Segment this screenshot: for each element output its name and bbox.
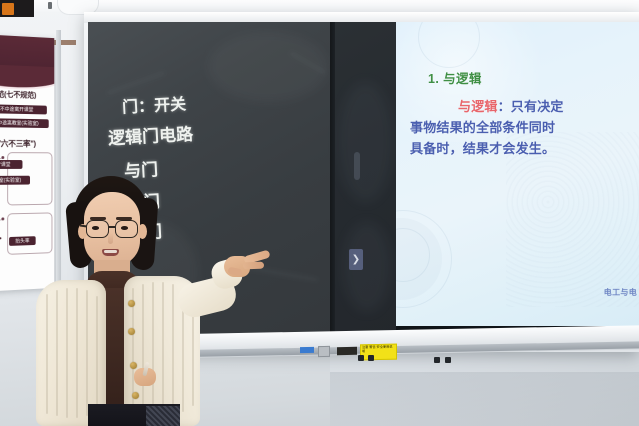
chevron-right-icon[interactable]: ❯ — [349, 249, 363, 270]
poster-pill-2: 不中途离教室(实验室) — [0, 118, 49, 128]
poster-node-dot-1 — [1, 156, 4, 159]
teeth — [104, 250, 117, 253]
slide-body-text: 与逻辑：只有决定 事物结果的全部条件同时 具备时，结果才会发生。 — [410, 96, 638, 159]
poster-pill-6 — [0, 237, 1, 240]
slide-body-line-1: 与逻辑：只有决定 — [410, 96, 638, 117]
slide-body-line-2: 事物结果的全部条件同时 — [410, 117, 638, 138]
slide-emphasis-term: 与逻辑 — [458, 99, 498, 114]
warning-sticker: 注意 警告 安全使用说明 — [360, 344, 397, 361]
slide-body-line-1-rest: ：只有决定 — [498, 99, 564, 114]
slide-heading: 1. 与逻辑 — [428, 68, 482, 87]
chalk-line-1: 门：开关 — [121, 90, 186, 117]
eye-right — [121, 226, 128, 230]
smartboard-panel-divider — [330, 22, 335, 344]
eye-left — [92, 226, 99, 230]
slide-footer-text: 电工与电 — [604, 287, 637, 298]
skirt-pattern — [146, 406, 180, 426]
drag-handle[interactable] — [354, 152, 360, 180]
wall-mounted-dark-box — [0, 0, 34, 17]
bezel-sensor-module — [318, 346, 330, 357]
wall-small-switch — [48, 2, 52, 9]
teacher — [28, 176, 248, 426]
bezel-port-2[interactable] — [368, 355, 374, 361]
slide-body-line-3: 具备时，结果才会发生。 — [410, 138, 638, 159]
poster-pill-4: 途教室(实验室) — [0, 176, 30, 185]
projected-slide[interactable]: 1. 与逻辑 与逻辑：只有决定 事物结果的全部条件同时 具备时，结果才会发生。 … — [396, 22, 639, 344]
middle-finger — [243, 262, 264, 270]
poster-title: 范(七不规范) — [0, 88, 52, 101]
cardigan-button-1 — [128, 300, 135, 307]
bezel-dark-label — [337, 347, 357, 355]
chalk-line-2: 逻辑门电路 — [107, 120, 193, 149]
poster-swoosh-decoration — [0, 64, 54, 89]
orange-indicator-panel — [2, 3, 14, 15]
pointing-hand — [224, 252, 268, 278]
poster-pill-3: 开课堂 — [0, 160, 22, 169]
nose — [108, 233, 113, 244]
glasses-bridge — [108, 226, 115, 228]
cardigan-button-2 — [128, 328, 135, 335]
bezel-blue-label — [300, 347, 314, 353]
classroom-photo: 范(七不规范) 不中途离开课堂 不中途离教室(实验室) "六不三率") 开课堂 … — [0, 0, 639, 426]
poster-node-dot-2 — [1, 217, 4, 220]
bezel-port-3[interactable] — [434, 357, 440, 363]
smartboard-dark-screen-strip[interactable] — [333, 22, 396, 344]
bezel-port-4[interactable] — [445, 357, 451, 363]
cardigan-button-4 — [132, 392, 139, 399]
poster-subtitle: "六不三率") — [0, 138, 54, 149]
bezel-port-1[interactable] — [358, 355, 364, 361]
wall-floor-shadow — [330, 372, 639, 426]
poster-pill-1: 不中途离开课堂 — [0, 104, 47, 114]
ear-right — [138, 224, 147, 239]
cardigan-button-3 — [130, 362, 137, 369]
